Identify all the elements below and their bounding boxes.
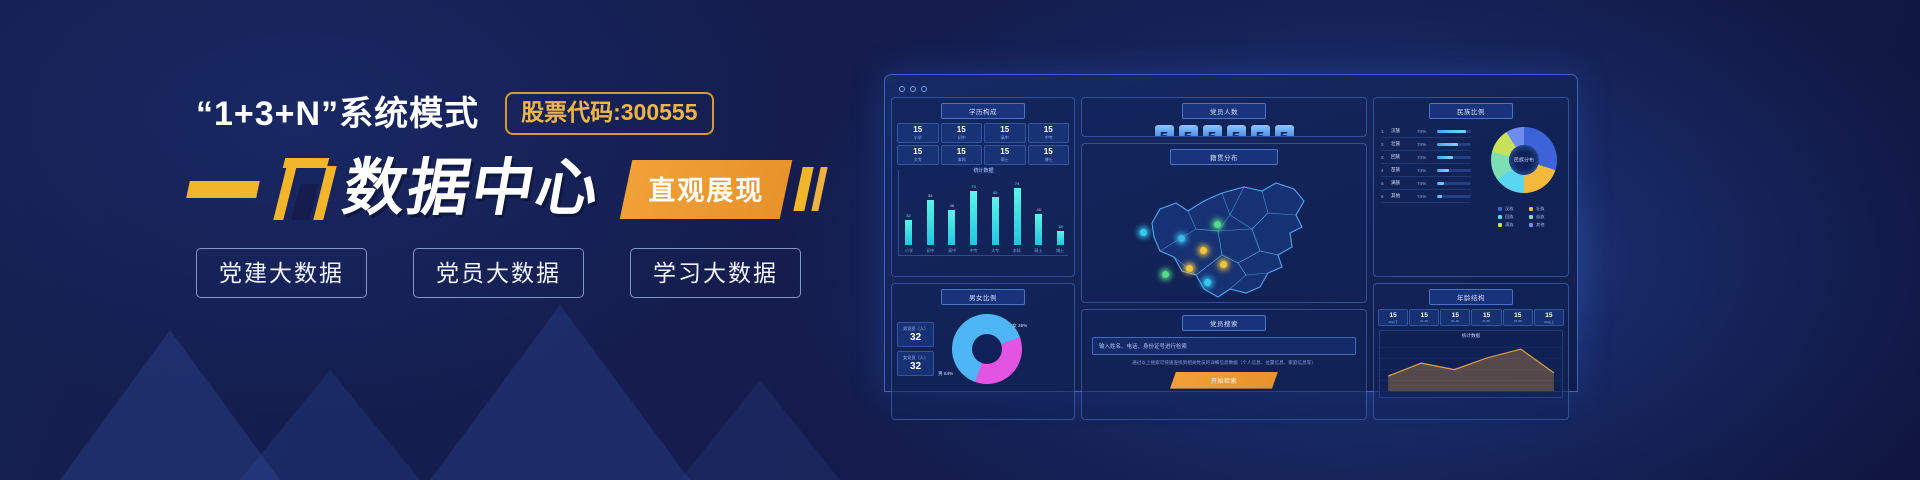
area-chart-svg [1380, 331, 1562, 397]
map-point-icon [1162, 271, 1169, 278]
window-dot-icon [899, 86, 905, 92]
stat-value: 15 [942, 126, 982, 135]
stat-cell: 15初中 [941, 123, 983, 143]
stat-cell: 1520以下 [1378, 309, 1408, 326]
age-area-chart: 统计数据 [1379, 330, 1563, 398]
panel-title-age: 年龄结构 [1429, 289, 1513, 305]
ethnicity-row: 3回族74% [1381, 151, 1471, 164]
bar-chart-title: 统计数据 [970, 167, 996, 174]
counter-digit: 5 [1251, 125, 1270, 137]
stat-value: 15 [942, 148, 982, 157]
stat-label: 20以下 [1380, 320, 1405, 325]
ethnicity-percent: 74% [1417, 129, 1433, 134]
rank: 2 [1381, 142, 1387, 147]
one-glyph-icon [272, 158, 334, 220]
tag-party-building[interactable]: 党建大数据 [196, 248, 367, 298]
progress-fill [1437, 169, 1449, 172]
age-stat-cells: 1520以下1521-301531-401541-501551-601560以上 [1374, 309, 1568, 326]
legend-item: 苗族 [1529, 214, 1550, 220]
stat-cell: 15本科 [941, 145, 983, 165]
system-mode-title: “1+3+N”系统模式 [196, 97, 479, 131]
education-stats-row-2: 15大专 15本科 15硕士 15博士 [892, 145, 1074, 165]
member-count-digits: 555555 [1082, 125, 1366, 137]
bar: 58 [927, 200, 934, 244]
ethnicity-donut-wrap: 民族分布 [1480, 125, 1568, 203]
stat-label: 初中 [943, 135, 979, 140]
stat-label: 31-40 [1443, 320, 1468, 324]
stat-cell: 15高中 [984, 123, 1026, 143]
stat-cell: 15硕士 [984, 145, 1026, 165]
stat-value: 15 [1029, 148, 1069, 157]
gender-label-male: 男 64% [938, 371, 953, 377]
bar: 62 [992, 197, 999, 244]
headline-row: 数据中心 直观展现 [188, 158, 823, 220]
x-tick-label: 大专 [991, 248, 999, 254]
gender-label-female: 女 36% [1012, 323, 1027, 329]
stat-cell: 1521-30 [1409, 309, 1439, 326]
dashboard-mockup: 学历构成 15小学 15初中 15高中 15中专 15大专 15本科 15硕士 … [884, 74, 1578, 392]
ethnicity-percent: 74% [1417, 181, 1433, 186]
dashboard-column-center: 党员人数 555555 籍贯分布 [1081, 97, 1367, 420]
counter-digit: 5 [1179, 125, 1198, 137]
bar: 70 [970, 191, 977, 244]
progress-track [1437, 156, 1471, 159]
progress-fill [1437, 156, 1453, 159]
legend-item: 其他 [1529, 222, 1550, 228]
education-bar-chart: 统计数据 3258467062744018 小学初中高中中专大专本科硕士博士 [898, 170, 1068, 256]
stat-label: 21-30 [1412, 320, 1437, 324]
progress-track [1437, 143, 1471, 146]
legend-item: 汉族 [1498, 206, 1519, 212]
x-tick-label: 初中 [927, 248, 935, 254]
stat-label: 博士 [1030, 157, 1066, 162]
ethnicity-percent: 74% [1417, 155, 1433, 160]
panel-title-education: 学历构成 [941, 103, 1025, 119]
ethnicity-percent: 74% [1417, 194, 1433, 199]
ethnicity-row: 1汉族74% [1381, 125, 1471, 138]
ethnicity-name: 壮族 [1391, 141, 1413, 147]
bar: 40 [1035, 214, 1042, 245]
rank: 3 [1381, 155, 1387, 160]
counter-digit: 5 [1155, 125, 1174, 137]
rank: 5 [1381, 181, 1387, 186]
search-description: 通过以上搜索可快速查找到相关党员的详细信息数据（个人信息、位置信息、家庭信息等） [1094, 359, 1354, 366]
stat-value: 15 [898, 126, 938, 135]
stat-cell: 1541-50 [1471, 309, 1501, 326]
ribbon-label: 直观展现 [648, 169, 764, 208]
banner-copy: “1+3+N”系统模式 股票代码:300555 数据中心 直观展现 党建大数据 … [0, 0, 860, 480]
window-dot-icon [921, 86, 927, 92]
progress-fill [1437, 182, 1444, 185]
stat-label: 高中 [987, 135, 1023, 140]
stat-label: 中专 [1030, 135, 1066, 140]
legend-swatch [1529, 215, 1533, 219]
map-point-icon [1220, 261, 1227, 268]
legend-swatch [1529, 223, 1533, 227]
ethnicity-name: 其他 [1391, 193, 1413, 199]
legend-label: 回族 [1505, 214, 1513, 220]
panel-title-map: 籍贯分布 [1170, 149, 1278, 165]
legend-swatch [1498, 223, 1502, 227]
ethnicity-row: 4苗族74% [1381, 164, 1471, 177]
slash-accent-icon [811, 167, 827, 211]
headline-ribbon: 直观展现 [626, 160, 823, 219]
counter-digit: 5 [1203, 125, 1222, 137]
slash-accent-icon [793, 167, 813, 211]
gender-stat-male: 男党员（人） 32 [897, 322, 934, 347]
gender-stats: 男党员（人） 32 女党员（人） 32 [897, 322, 934, 376]
panel-title-ethnicity: 民族比例 [1429, 103, 1513, 119]
stat-label: 小学 [900, 135, 936, 140]
ethnicity-name: 满族 [1391, 180, 1413, 186]
panel-ethnicity: 民族比例 1汉族74%2壮族74%3回族74%4苗族74%5满族74%6其他74… [1373, 97, 1569, 277]
panel-title-gender: 男女比例 [941, 289, 1025, 305]
map-point-icon [1140, 229, 1147, 236]
ethnicity-legend: 汉族壮族回族苗族满族其他 [1480, 203, 1568, 228]
stat-cell: 1531-40 [1440, 309, 1470, 326]
rank: 1 [1381, 129, 1387, 134]
rank: 4 [1381, 168, 1387, 173]
promo-banner: “1+3+N”系统模式 股票代码:300555 数据中心 直观展现 党建大数据 … [0, 0, 1920, 480]
stat-value: 15 [985, 148, 1025, 157]
map-point-icon [1204, 279, 1211, 286]
x-tick-label: 小学 [905, 248, 913, 254]
stat-label: 大专 [900, 157, 936, 162]
bar-x-axis: 小学初中高中中专大专本科硕士博士 [905, 248, 1064, 254]
dashboard-column-left: 学历构成 15小学 15初中 15高中 15中专 15大专 15本科 15硕士 … [891, 97, 1075, 420]
stat-label: 本科 [943, 157, 979, 162]
dashboard-grid: 学历构成 15小学 15初中 15高中 15中专 15大专 15本科 15硕士 … [891, 97, 1571, 391]
china-map [1082, 169, 1366, 303]
stat-value: 15 [1029, 126, 1069, 135]
ethnicity-name: 苗族 [1391, 167, 1413, 173]
legend-item: 壮族 [1529, 206, 1550, 212]
ethnicity-row: 6其他74% [1381, 190, 1471, 203]
tag-party-member[interactable]: 党员大数据 [413, 248, 584, 298]
stat-label: 41-50 [1474, 320, 1499, 324]
x-tick-label: 博士 [1056, 248, 1064, 254]
legend-label: 满族 [1505, 222, 1513, 228]
bar: 32 [905, 220, 912, 244]
legend-label: 其他 [1536, 222, 1544, 228]
counter-digit: 5 [1275, 125, 1294, 137]
panel-age: 年龄结构 1520以下1521-301531-401541-501551-601… [1373, 283, 1569, 420]
rank: 6 [1381, 194, 1387, 199]
gender-content: 男党员（人） 32 女党员（人） 32 女 36% 男 64% [892, 309, 1074, 387]
bar: 18 [1057, 231, 1064, 245]
map-point-icon [1178, 235, 1185, 242]
ethnicity-percent: 74% [1417, 142, 1433, 147]
stat-cell: 15大专 [897, 145, 939, 165]
stat-label: 51-60 [1505, 320, 1530, 324]
map-point-icon [1214, 221, 1221, 228]
progress-track [1437, 130, 1471, 133]
education-stats-row-1: 15小学 15初中 15高中 15中专 [892, 123, 1074, 143]
china-map-icon [1126, 171, 1322, 303]
headline-main: 数据中心 [339, 158, 606, 220]
ethnicity-row: 5满族74% [1381, 177, 1471, 190]
gender-stat-female: 女党员（人） 32 [897, 351, 934, 376]
system-mode-text: “1+3+N”系统模式 [196, 95, 479, 133]
panel-education: 学历构成 15小学 15初中 15高中 15中专 15大专 15本科 15硕士 … [891, 97, 1075, 277]
legend-item: 满族 [1498, 222, 1519, 228]
legend-swatch [1498, 207, 1502, 211]
legend-label: 汉族 [1505, 206, 1513, 212]
dash-accent-icon [186, 181, 260, 198]
panel-title-member-count: 党员人数 [1182, 103, 1266, 119]
bar: 74 [1014, 188, 1021, 244]
ethnicity-row: 2壮族74% [1381, 138, 1471, 151]
start-search-button[interactable]: 开始检索 [1170, 372, 1278, 389]
bar: 46 [948, 210, 955, 245]
progress-track [1437, 169, 1471, 172]
counter-digit: 5 [1227, 125, 1246, 137]
tag-study[interactable]: 学习大数据 [630, 248, 801, 298]
map-point-icon [1200, 247, 1207, 254]
progress-track [1437, 182, 1471, 185]
progress-fill [1437, 143, 1458, 146]
subtitle-row: “1+3+N”系统模式 股票代码:300555 [196, 92, 714, 135]
ethnicity-donut-chart: 民族分布 [1491, 127, 1557, 193]
legend-swatch [1529, 207, 1533, 211]
bar-series: 3258467062744018 [905, 184, 1064, 245]
progress-fill [1437, 195, 1442, 198]
legend-item: 回族 [1498, 214, 1519, 220]
stat-value: 15 [985, 126, 1025, 135]
x-tick-label: 硕士 [1034, 248, 1042, 254]
x-tick-label: 中专 [970, 248, 978, 254]
gender-male-value: 32 [903, 332, 928, 343]
stat-value: 15 [898, 148, 938, 157]
stat-cell: 15博士 [1028, 145, 1070, 165]
progress-track [1437, 195, 1471, 198]
gender-female-value: 32 [903, 361, 928, 372]
ethnicity-percent: 74% [1417, 168, 1433, 173]
ethnicity-name: 回族 [1391, 154, 1413, 160]
panel-title-search: 党员搜索 [1182, 315, 1266, 331]
stock-code-badge: 股票代码:300555 [505, 92, 713, 135]
panel-search: 党员搜索 输入姓名、电话、身份证号进行检索 通过以上搜索可快速查找到相关党员的详… [1081, 309, 1367, 420]
stat-label: 60以上 [1536, 320, 1561, 325]
x-tick-label: 本科 [1013, 248, 1021, 254]
stat-label: 硕士 [987, 157, 1023, 162]
stat-cell: 1551-60 [1503, 309, 1533, 326]
map-point-icon [1186, 265, 1193, 272]
ethnicity-name: 汉族 [1391, 128, 1413, 134]
x-tick-label: 高中 [948, 248, 956, 254]
stat-cell: 15中专 [1028, 123, 1070, 143]
legend-swatch [1498, 215, 1502, 219]
stat-cell: 15小学 [897, 123, 939, 143]
panel-map: 籍贯分布 [1081, 143, 1367, 303]
donut-center-label: 民族分布 [1514, 157, 1534, 164]
search-input[interactable]: 输入姓名、电话、身份证号进行检索 [1092, 337, 1356, 355]
ethnicity-rank-list: 1汉族74%2壮族74%3回族74%4苗族74%5满族74%6其他74% [1374, 123, 1478, 228]
legend-label: 苗族 [1536, 214, 1544, 220]
panel-member-count: 党员人数 555555 [1081, 97, 1367, 137]
dashboard-column-right: 民族比例 1汉族74%2壮族74%3回族74%4苗族74%5满族74%6其他74… [1373, 97, 1569, 420]
window-titlebar [891, 81, 1571, 97]
stat-cell: 1560以上 [1534, 309, 1564, 326]
progress-fill [1437, 130, 1466, 133]
search-form: 输入姓名、电话、身份证号进行检索 通过以上搜索可快速查找到相关党员的详细信息数据… [1082, 335, 1366, 394]
legend-label: 壮族 [1536, 206, 1544, 212]
panel-gender: 男女比例 男党员（人） 32 女党员（人） 32 [891, 283, 1075, 420]
window-dot-icon [910, 86, 916, 92]
tag-row: 党建大数据 党员大数据 学习大数据 [196, 248, 801, 298]
